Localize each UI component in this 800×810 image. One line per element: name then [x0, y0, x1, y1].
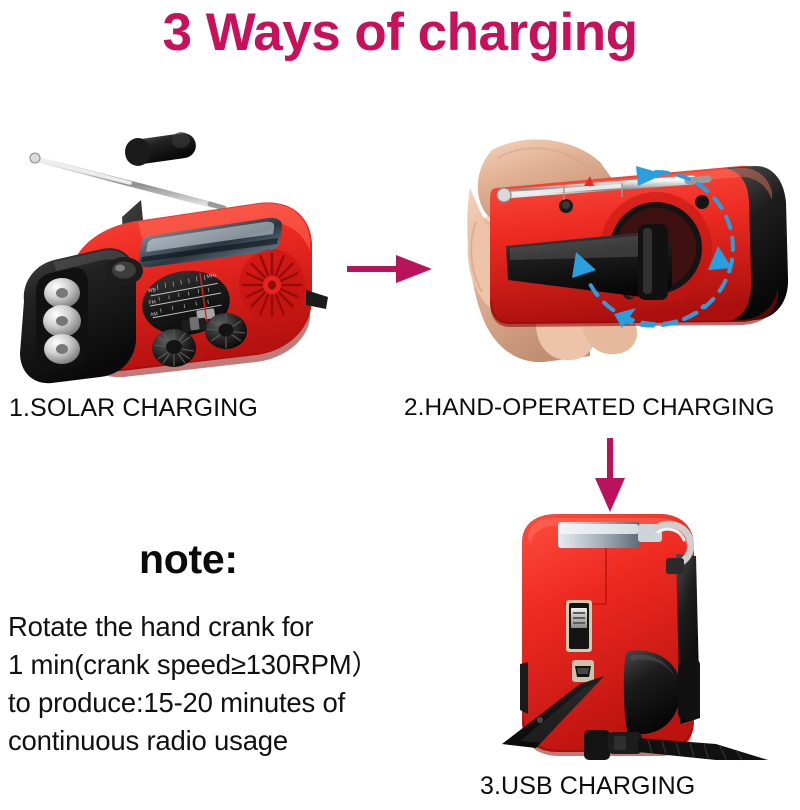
micro-usb-port: [572, 660, 594, 682]
note-line-3: to produce:15-20 minutes of: [8, 684, 400, 722]
note-body: Rotate the hand crank for 1 min(crank sp…: [8, 608, 400, 760]
infographic-canvas: 3 Ways of charging: [0, 0, 800, 810]
radio-front-illustration: WB FM AM MHz: [10, 105, 340, 390]
caption-solar-charging: 1.SOLAR CHARGING: [9, 394, 258, 423]
dial-label-fm: FM: [148, 299, 156, 306]
arrow-step1-to-step2: [344, 252, 434, 286]
note-heading: note:: [139, 536, 238, 583]
panel-usb-charging: [480, 508, 770, 770]
note-line-1: Rotate the hand crank for: [8, 608, 400, 646]
hand-crank-illustration: [440, 128, 800, 383]
dial-label-wb: WB: [148, 287, 157, 294]
speaker-grille: [239, 249, 305, 321]
power-button: [105, 257, 143, 285]
arrow-step2-to-step3: [585, 436, 635, 514]
note-line-2: 1 min(crank speed≥130RPM）: [8, 646, 400, 684]
page-title: 3 Ways of charging: [0, 2, 800, 63]
volume-knob: [205, 313, 247, 349]
caption-hand-operated-charging: 2.HAND-OPERATED CHARGING: [404, 394, 775, 422]
left-edge-sliver: [520, 662, 528, 714]
tuning-knob: [152, 329, 196, 367]
caption-usb-charging: 3.USB CHARGING: [480, 772, 695, 801]
usb-a-port: [566, 600, 592, 652]
dial-label-am: AM: [150, 311, 158, 318]
panel-hand-operated-charging: [440, 128, 800, 383]
note-line-4: continuous radio usage: [8, 722, 400, 760]
panel-solar-charging: WB FM AM MHz: [10, 105, 340, 390]
telescopic-antenna: [30, 153, 224, 208]
side-edge-black: [676, 554, 700, 724]
radio-side-illustration: [480, 508, 770, 770]
